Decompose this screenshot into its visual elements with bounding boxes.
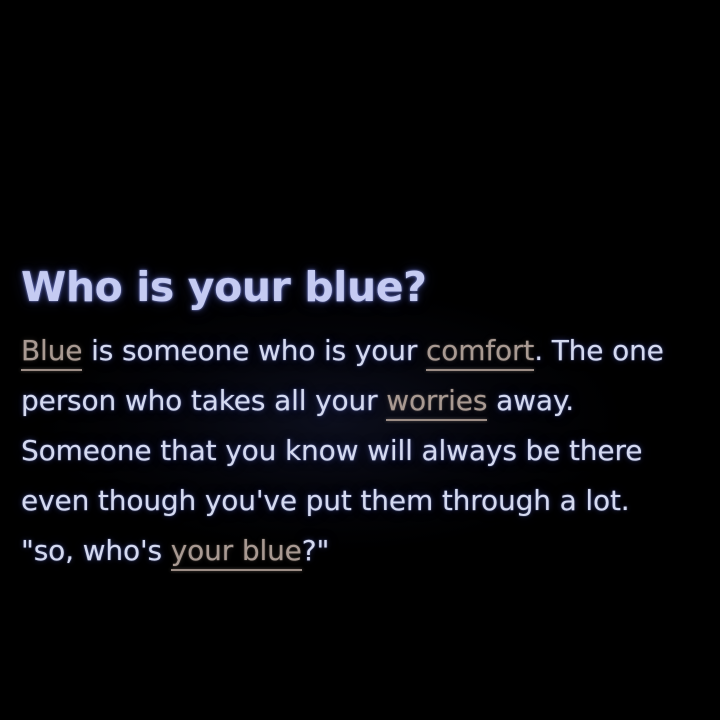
quote-text: is someone who is your [82,334,426,367]
keyword-your-blue: your blue [171,534,302,567]
quote-text: . The one [534,334,664,367]
quote-text: ?" [302,534,329,567]
quote-text: "so, who's [21,534,171,567]
page-title: Who is your blue? [21,262,711,312]
quote-line-3: Someone that you know will always be the… [21,426,711,476]
quote-text: even though you've put them through a lo… [21,484,630,517]
quote-block: Who is your blue? Blue is someone who is… [21,262,711,576]
quote-text: Someone that you know will always be the… [21,434,642,467]
quote-body: Blue is someone who is your comfort. The… [21,326,711,576]
keyword-comfort: comfort [426,334,534,367]
quote-line-2: person who takes all your worries away. [21,376,711,426]
quote-text: person who takes all your [21,384,386,417]
quote-text: away. [487,384,574,417]
quote-line-4: even though you've put them through a lo… [21,476,711,526]
keyword-blue: Blue [21,334,82,367]
quote-line-5: "so, who's your blue?" [21,526,711,576]
image-canvas: Who is your blue? Blue is someone who is… [0,0,720,720]
keyword-worries: worries [386,384,487,417]
quote-line-1: Blue is someone who is your comfort. The… [21,326,711,376]
